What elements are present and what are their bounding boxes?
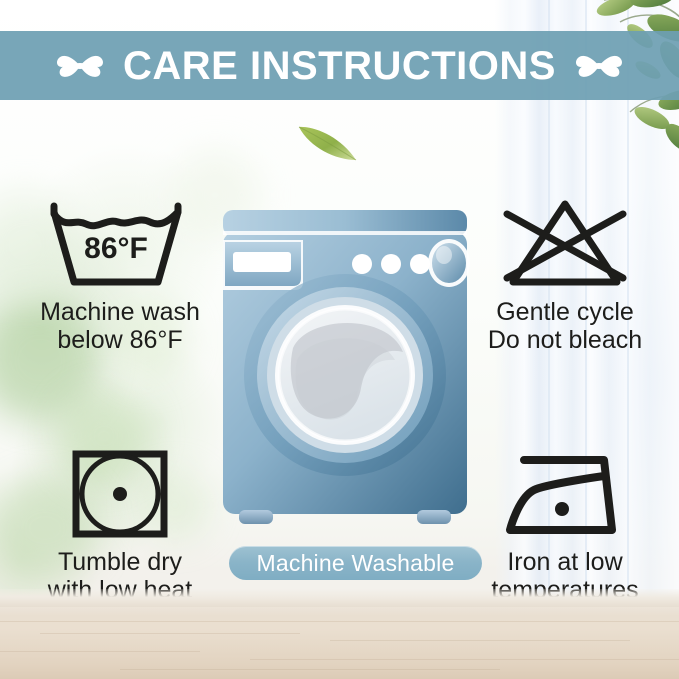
falling-leaf-icon: [296, 122, 360, 164]
care-instructions-infographic: CARE INSTRUCTIONS 86°F Machine wash belo…: [0, 0, 679, 679]
fleur-de-lis-icon: [572, 44, 626, 88]
triangle-crossed-bleach-icon: [489, 196, 641, 292]
care-symbol-machine-wash: 86°F Machine wash below 86°F: [10, 196, 230, 354]
page-title: CARE INSTRUCTIONS: [123, 46, 556, 86]
wash-tub-icon: 86°F: [44, 196, 196, 292]
wooden-table-surface: [0, 607, 679, 679]
iron-low-icon: [500, 446, 630, 542]
care-symbol-tumble-dry: Tumble dry with low heat: [10, 446, 230, 604]
fleur-de-lis-icon: [53, 44, 107, 88]
care-caption: Machine wash below 86°F: [40, 298, 200, 354]
care-caption: Gentle cycle Do not bleach: [488, 298, 642, 354]
status-badge: Machine Washable: [229, 546, 482, 580]
tumble-dry-low-icon: [62, 446, 178, 542]
header-banner: CARE INSTRUCTIONS: [0, 31, 679, 100]
status-badge-label: Machine Washable: [257, 552, 455, 575]
wash-temperature-label: 86°F: [84, 232, 148, 265]
washing-machine-illustration: [215, 200, 475, 550]
care-symbol-iron-low: Iron at low temperatures: [455, 446, 675, 604]
care-symbol-do-not-bleach: Gentle cycle Do not bleach: [455, 196, 675, 354]
table-edge: [0, 589, 679, 607]
